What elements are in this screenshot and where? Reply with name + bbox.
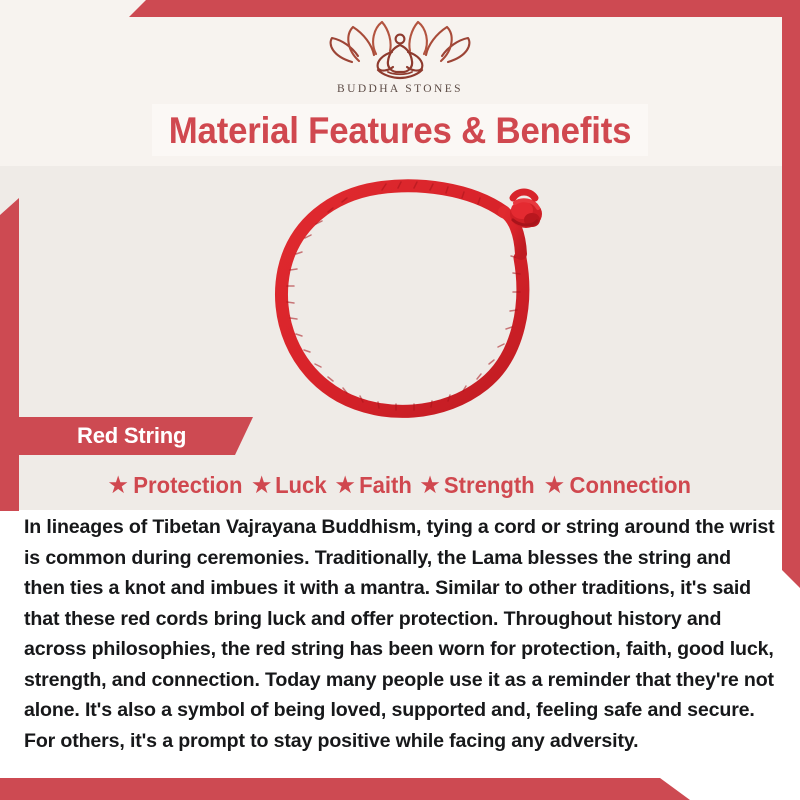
section-ribbon-label: Red String <box>77 423 186 449</box>
section-ribbon-red-string: Red String <box>19 417 253 455</box>
feature-label: Protection <box>133 472 242 499</box>
feature-label: Faith <box>359 472 412 499</box>
page-title: Material Features & Benefits <box>169 112 631 149</box>
brand-name: BUDDHA STONES <box>337 83 463 95</box>
product-image <box>232 172 578 420</box>
lotus-meditation-figure-icon <box>326 18 474 80</box>
decorative-bar-left <box>0 198 19 511</box>
feature-item-protection: ★ Protection <box>105 472 249 499</box>
feature-label: Connection <box>569 472 690 499</box>
infographic-page: BUDDHA STONES Material Features & Benefi… <box>0 0 800 800</box>
star-icon: ★ <box>252 475 271 496</box>
star-icon: ★ <box>421 475 440 496</box>
feature-label: Strength <box>444 472 535 499</box>
title-plate: Material Features & Benefits <box>152 104 648 156</box>
feature-item-connection: ★ Connection <box>541 472 697 499</box>
star-icon: ★ <box>545 475 564 496</box>
feature-item-faith: ★ Faith <box>332 472 417 499</box>
feature-list: ★ Protection ★ Luck ★ Faith ★ Strength ★… <box>22 468 780 502</box>
description-paragraph: In lineages of Tibetan Vajrayana Buddhis… <box>24 512 776 756</box>
decorative-bar-bottom <box>0 778 690 800</box>
feature-item-strength: ★ Strength <box>417 472 541 499</box>
feature-item-luck: ★ Luck <box>248 472 332 499</box>
brand-logo: BUDDHA STONES <box>0 18 800 95</box>
star-icon: ★ <box>336 475 355 496</box>
feature-label: Luck <box>275 472 327 499</box>
star-icon: ★ <box>109 475 128 496</box>
